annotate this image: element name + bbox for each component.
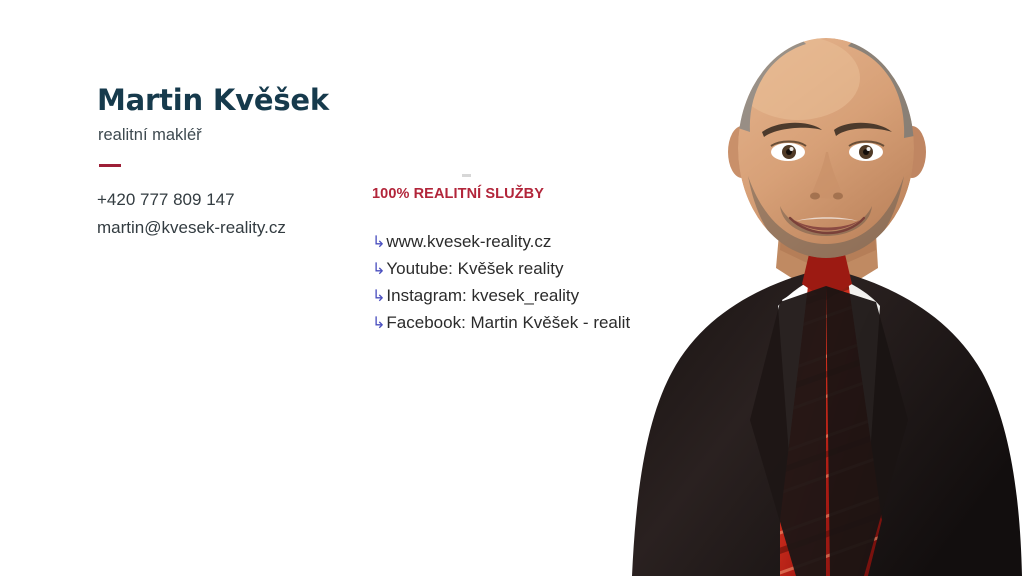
contact-email[interactable]: martin@kvesek-reality.cz bbox=[97, 214, 397, 242]
contact-phone[interactable]: +420 777 809 147 bbox=[97, 186, 397, 214]
accent-divider bbox=[99, 164, 121, 167]
arrow-right-down-icon: ↳ bbox=[372, 288, 385, 304]
arrow-right-down-icon: ↳ bbox=[372, 234, 385, 250]
channel-label: www.kvesek-reality.cz bbox=[386, 229, 551, 256]
portrait-photo bbox=[630, 0, 1024, 576]
slide-canvas: Martin Kvěšek realitní makléř +420 777 8… bbox=[0, 0, 1024, 576]
channel-label: Youtube: Kvěšek reality bbox=[386, 256, 563, 283]
identity-block: Martin Kvěšek realitní makléř +420 777 8… bbox=[97, 84, 397, 241]
arrow-right-down-icon: ↳ bbox=[372, 315, 385, 331]
portrait-illustration bbox=[630, 0, 1024, 576]
person-role: realitní makléř bbox=[98, 126, 397, 146]
channel-label: Instagram: kvesek_reality bbox=[386, 283, 579, 310]
arrow-right-down-icon: ↳ bbox=[372, 261, 385, 277]
contact-list: +420 777 809 147 martin@kvesek-reality.c… bbox=[97, 186, 397, 241]
image-artifact bbox=[462, 174, 471, 177]
page-title: Martin Kvěšek bbox=[97, 84, 397, 117]
